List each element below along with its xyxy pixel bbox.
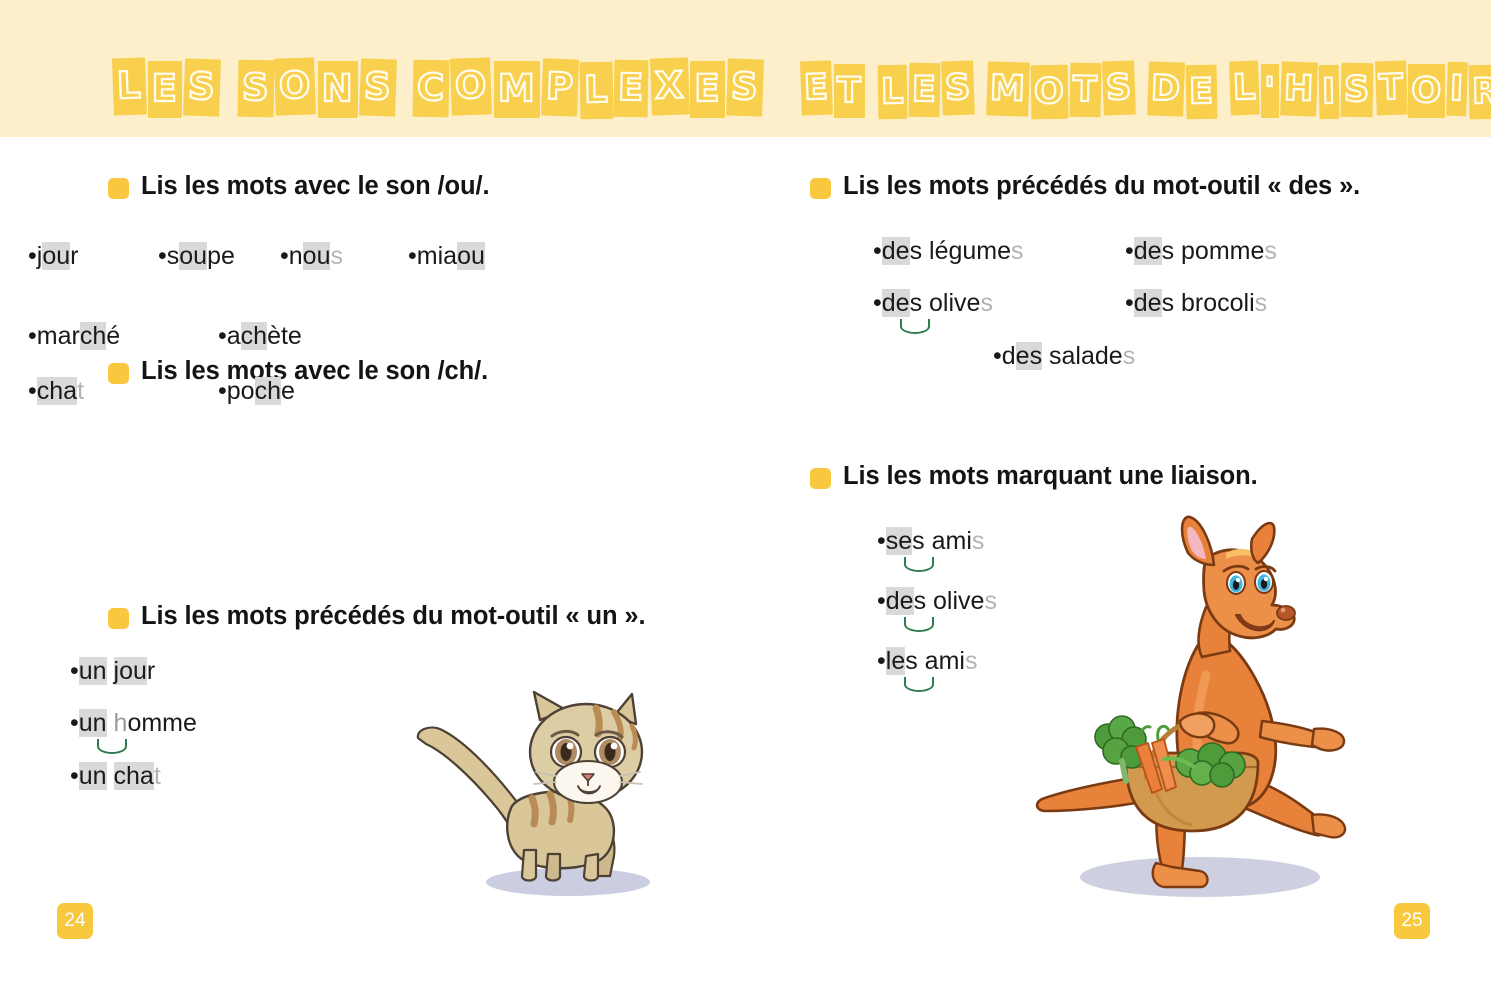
word-item: •marché (28, 322, 124, 351)
title-right-letter: S (1341, 63, 1374, 118)
word-item: •les amis (877, 647, 981, 676)
word-part: olive (922, 289, 980, 317)
bullet-square-icon (108, 608, 129, 629)
word-item: •des salades (993, 342, 1139, 371)
list-bullet-icon: • (218, 377, 227, 406)
list-bullet-icon: • (28, 377, 37, 406)
bullet-square-icon (810, 178, 831, 199)
list-bullet-icon: • (873, 289, 882, 318)
word-part: de (1134, 237, 1162, 265)
title-right-letter: H (1280, 61, 1318, 116)
bullet-square-icon (108, 363, 129, 384)
list-bullet-icon: • (877, 647, 886, 676)
list-bullet-icon: • (28, 242, 37, 271)
word-part: jou (114, 657, 147, 685)
word-part: pe (207, 242, 235, 270)
title-right-letter: S (1102, 60, 1136, 115)
word-text: soupe (167, 242, 239, 271)
word-item: •poche (218, 377, 299, 406)
title-left-space (222, 60, 236, 117)
word-text: des salades (1002, 342, 1139, 371)
word-part: s (980, 289, 993, 317)
word-item: •soupe (158, 242, 239, 271)
page-title-left: LES SONS COMPLEXES (112, 55, 763, 117)
word-part: s (984, 587, 997, 615)
list-bullet-icon: • (218, 322, 227, 351)
word-part: s (905, 647, 918, 675)
word-part: mia (417, 242, 457, 270)
word-text: marché (37, 322, 124, 351)
word-part: po (227, 377, 255, 405)
word-part: es (1016, 342, 1042, 370)
word-item: •ses amis (877, 527, 988, 556)
list-bullet-icon: • (28, 322, 37, 351)
word-item: •un jour (70, 657, 159, 686)
bullet-square-icon (810, 468, 831, 489)
title-right-letter: O (1408, 64, 1445, 118)
word-part: ou (42, 242, 70, 270)
title-right-letter: I (1319, 65, 1340, 119)
word-part: r (70, 242, 78, 270)
word-part: a (227, 322, 241, 350)
list-bullet-icon: • (1125, 289, 1134, 318)
word-part (107, 762, 114, 790)
word-part: s (965, 647, 978, 675)
workbook-spread: LES SONS COMPLEXES ET LES MOTS DE L'HIST… (0, 0, 1491, 1000)
word-part: s (330, 242, 343, 270)
word-item: •un chat (70, 762, 165, 791)
word-part: mar (37, 322, 80, 350)
word-text: des légumes (882, 237, 1028, 266)
word-part: t (154, 762, 161, 790)
word-part: de (882, 237, 910, 265)
word-item: •des olives (873, 289, 997, 318)
word-text: les amis (886, 647, 982, 676)
word-part: s (910, 237, 923, 265)
title-left-letter: E (148, 61, 182, 118)
word-part: r (147, 657, 155, 685)
word-part: é (106, 322, 120, 350)
list-bullet-icon: • (70, 709, 79, 738)
title-right-letter: O (1031, 65, 1069, 120)
word-text: poche (227, 377, 299, 406)
title-right-letter: R (1469, 65, 1491, 120)
exercise-heading-label: Lis les mots précédés du mot-outil « un … (141, 602, 645, 631)
exercise-heading-label: Lis les mots précédés du mot-outil « des… (843, 172, 1360, 201)
word-item: •chat (28, 377, 88, 406)
word-part: h (114, 709, 128, 737)
word-part: s (1123, 342, 1136, 370)
title-right-space (976, 63, 985, 117)
exercise-heading-label: Lis les mots avec le son /ch/. (141, 357, 488, 386)
title-right-space (1137, 63, 1146, 117)
word-part: ch (80, 322, 106, 350)
word-part: s (1011, 237, 1024, 265)
title-right-space (867, 63, 876, 117)
word-item: •achète (218, 322, 306, 351)
word-text: des brocolis (1134, 289, 1271, 318)
title-left-letter: X (650, 57, 689, 115)
title-right-letter: L (877, 65, 907, 120)
word-part: s (914, 587, 927, 615)
word-item: •jour (28, 242, 82, 271)
word-part: un (79, 709, 107, 737)
title-right-letter: T (834, 64, 865, 118)
list-bullet-icon: • (280, 242, 289, 271)
word-part: ch (255, 377, 281, 405)
title-left-letter: S (726, 58, 764, 116)
word-item: •des olives (877, 587, 1001, 616)
exercise-heading-label: Lis les mots marquant une liaison. (843, 462, 1258, 491)
title-left-letter: O (450, 57, 492, 115)
title-right-letter: D (1147, 61, 1185, 116)
word-text: des olives (882, 289, 997, 318)
word-part: de (882, 289, 910, 317)
liaison-arc-icon (97, 739, 127, 754)
title-right-space (1219, 63, 1228, 117)
list-bullet-icon: • (70, 657, 79, 686)
title-left-letter: L (579, 62, 613, 120)
word-text: un homme (79, 709, 201, 738)
word-item: •des brocolis (1125, 289, 1271, 318)
word-part: s (1264, 237, 1277, 265)
word-part: s (1162, 289, 1175, 317)
word-part: s (912, 527, 925, 555)
word-part: se (886, 527, 912, 555)
word-text: un chat (79, 762, 165, 791)
word-part: d (1002, 342, 1016, 370)
page-title-right: ET LES MOTS DE L'HISTOIRE (800, 55, 1491, 117)
title-right-letter: M (986, 61, 1030, 116)
title-right-letter: E (1186, 65, 1218, 120)
title-left-letter: L (112, 57, 147, 115)
list-bullet-icon: • (158, 242, 167, 271)
title-left-letter: S (237, 60, 274, 118)
liaison-arc-icon (904, 677, 934, 692)
exercise-heading: Lis les mots avec le son /ou/. (108, 172, 489, 201)
word-part: ou (457, 242, 485, 270)
word-part: olive (926, 587, 984, 615)
word-part: e (281, 377, 295, 405)
title-left-letter: S (183, 58, 221, 116)
word-part: n (289, 242, 303, 270)
word-item: •des légumes (873, 237, 1028, 266)
cat-illustration (400, 690, 700, 905)
exercise-heading-label: Lis les mots avec le son /ou/. (141, 172, 489, 201)
title-left-letter: O (274, 57, 316, 115)
word-text: achète (227, 322, 306, 351)
word-item: •des pommes (1125, 237, 1281, 266)
title-right-letter: E (800, 60, 833, 115)
word-item: •miaou (408, 242, 489, 271)
list-bullet-icon: • (408, 242, 417, 271)
word-part: cha (114, 762, 154, 790)
kangaroo-illustration (1030, 515, 1370, 905)
page-number-right: 25 (1394, 903, 1430, 939)
word-part: omme (127, 709, 196, 737)
list-bullet-icon: • (993, 342, 1002, 371)
word-part: s (910, 289, 923, 317)
word-part: cha (37, 377, 77, 405)
list-bullet-icon: • (877, 587, 886, 616)
title-left-letter: M (494, 61, 540, 118)
title-left-letter: S (359, 58, 397, 116)
word-part: brocoli (1174, 289, 1255, 317)
word-text: miaou (417, 242, 489, 271)
title-right-letter: I (1446, 62, 1468, 117)
word-part: t (77, 377, 84, 405)
word-text: des olives (886, 587, 1001, 616)
word-part: s (1255, 289, 1268, 317)
exercise-heading: Lis les mots marquant une liaison. (810, 462, 1258, 491)
word-item: •nous (280, 242, 347, 271)
title-left-letter: N (318, 61, 358, 118)
word-part: s (1162, 237, 1175, 265)
word-item: •un homme (70, 709, 201, 738)
word-part: ami (918, 647, 965, 675)
list-bullet-icon: • (1125, 237, 1134, 266)
title-right-letter: E (909, 63, 941, 118)
title-left-letter: P (541, 58, 579, 116)
word-part: ète (267, 322, 302, 350)
word-part: le (886, 647, 905, 675)
title-right-letter: S (941, 60, 975, 115)
word-text: chat (37, 377, 88, 406)
list-bullet-icon: • (70, 762, 79, 791)
liaison-arc-icon (900, 319, 930, 334)
liaison-arc-icon (904, 557, 934, 572)
word-part: ou (179, 242, 207, 270)
word-part: de (886, 587, 914, 615)
word-part: s (167, 242, 180, 270)
page-number-left: 24 (57, 903, 93, 939)
word-part (107, 657, 114, 685)
word-part: s (972, 527, 985, 555)
title-right-letter: ' (1261, 64, 1279, 118)
word-part: pomme (1174, 237, 1264, 265)
title-left-letter: E (690, 61, 724, 118)
title-left-letter: C (413, 60, 450, 118)
title-left-letter: E (614, 60, 649, 118)
word-part (107, 709, 114, 737)
word-part: légume (922, 237, 1011, 265)
word-part: un (79, 762, 107, 790)
list-bullet-icon: • (877, 527, 886, 556)
exercise-heading: Lis les mots précédés du mot-outil « un … (108, 602, 645, 631)
word-text: ses amis (886, 527, 989, 556)
word-part: salade (1042, 342, 1123, 370)
word-text: nous (289, 242, 347, 271)
list-bullet-icon: • (873, 237, 882, 266)
word-part: ou (303, 242, 331, 270)
title-left-space (397, 60, 411, 117)
word-text: jour (37, 242, 83, 271)
title-right-letter: L (1229, 61, 1260, 116)
word-part: un (79, 657, 107, 685)
title-right-letter: T (1069, 63, 1101, 118)
exercise-heading: Lis les mots précédés du mot-outil « des… (810, 172, 1360, 201)
word-text: un jour (79, 657, 159, 686)
bullet-square-icon (108, 178, 129, 199)
title-right-letter: T (1375, 60, 1408, 115)
word-part: de (1134, 289, 1162, 317)
liaison-arc-icon (904, 617, 934, 632)
word-part: ami (925, 527, 972, 555)
word-text: des pommes (1134, 237, 1281, 266)
word-part: ch (241, 322, 267, 350)
